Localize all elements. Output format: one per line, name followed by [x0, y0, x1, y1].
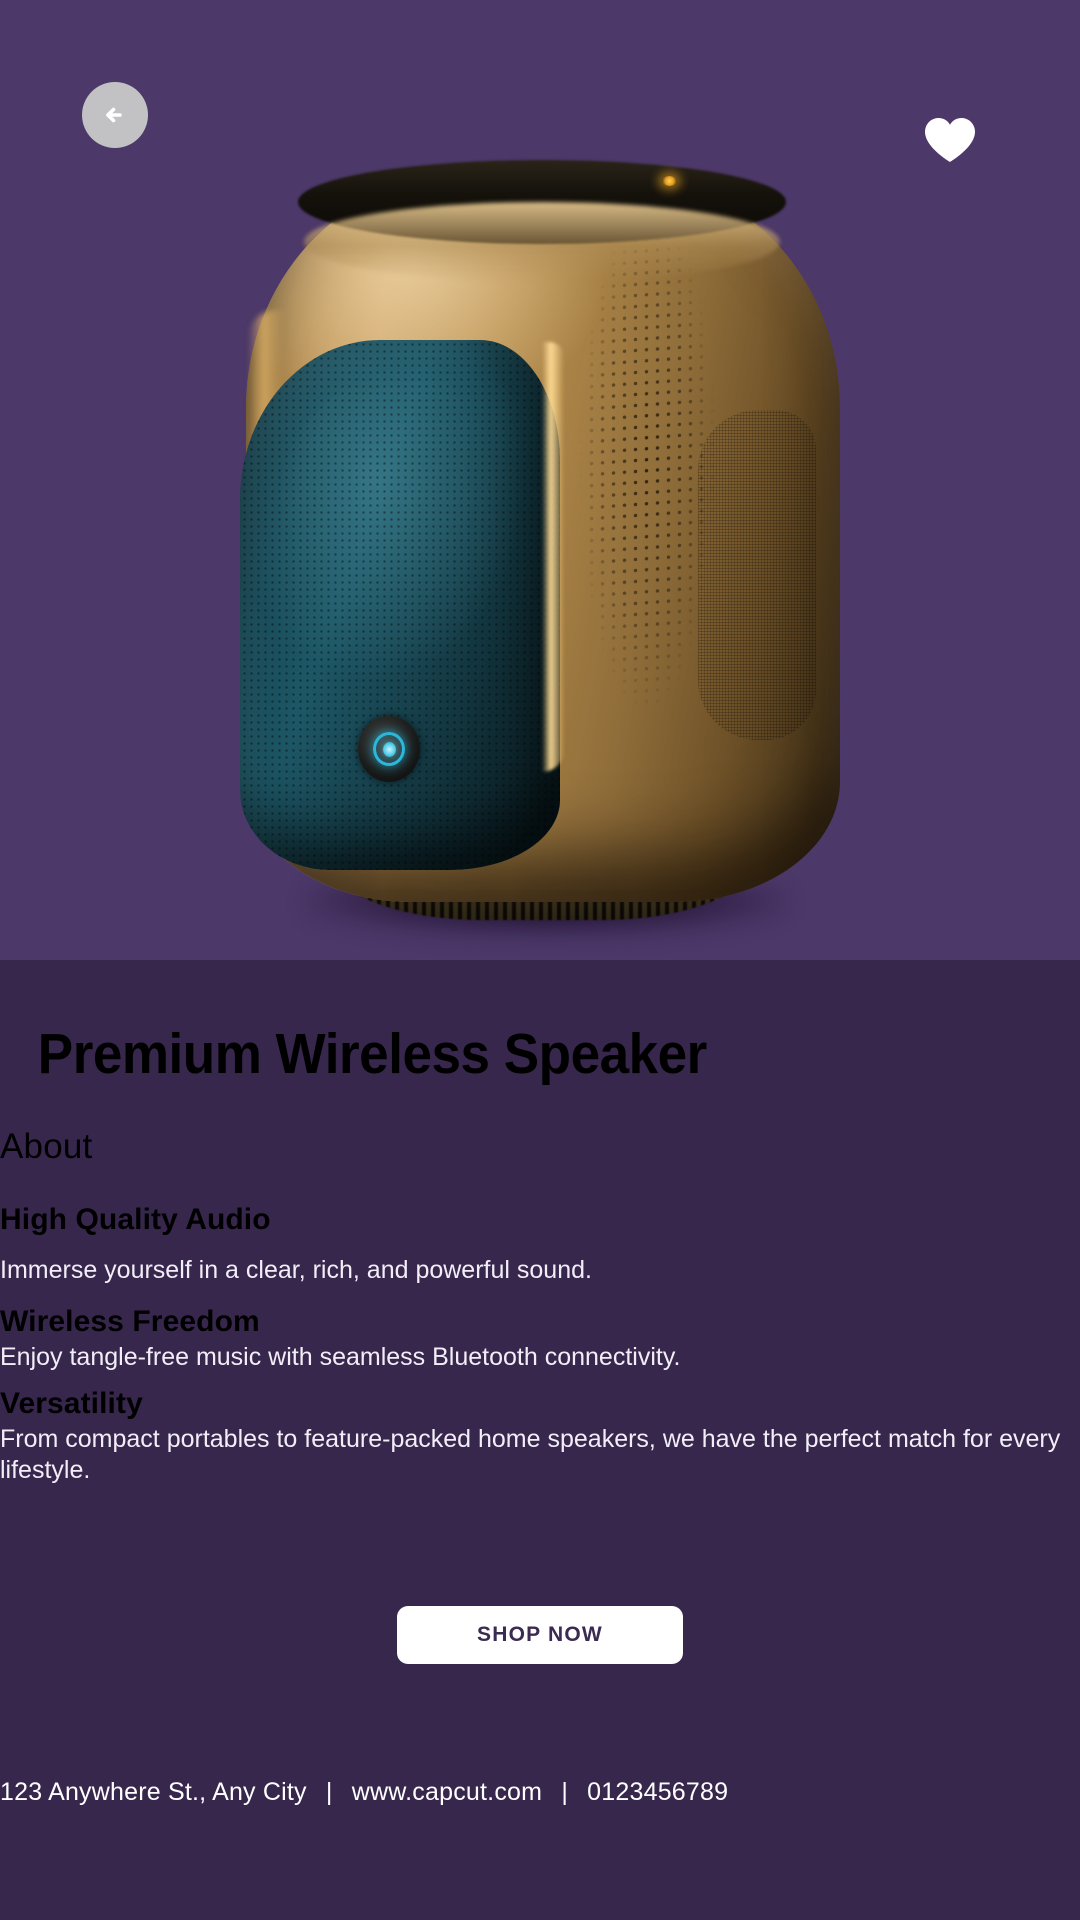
feature-item: High Quality Audio Immerse yourself in a… [0, 1203, 1080, 1286]
product-image [246, 160, 840, 930]
feature-heading: Wireless Freedom [0, 1305, 1080, 1339]
back-button[interactable] [82, 82, 148, 148]
power-ring-icon [373, 732, 405, 766]
footer-phone[interactable]: 0123456789 [587, 1778, 728, 1806]
footer-contact: 123 Anywhere St., Any City | www.capcut.… [0, 1778, 1080, 1807]
shop-now-button[interactable]: SHOP NOW [397, 1606, 683, 1664]
footer-separator: | [314, 1778, 345, 1806]
footer-address: 123 Anywhere St., Any City [0, 1778, 307, 1806]
heart-filled-icon [923, 116, 977, 164]
favorite-button[interactable] [920, 112, 980, 168]
power-core-icon [383, 742, 396, 757]
hero-section [0, 0, 1080, 960]
product-side-mesh [698, 410, 816, 740]
product-status-led-icon [662, 176, 677, 186]
about-heading: About [0, 1127, 1080, 1167]
feature-body: From compact portables to feature-packed… [0, 1424, 1080, 1485]
feature-body: Immerse yourself in a clear, rich, and p… [0, 1255, 1080, 1286]
arrow-left-icon [98, 98, 132, 132]
feature-heading: Versatility [0, 1387, 1080, 1421]
product-power-button[interactable] [358, 716, 420, 782]
product-front-mesh [240, 340, 560, 870]
product-mesh-bevel [542, 342, 564, 772]
product-top-rim [304, 202, 780, 282]
page-title: Premium Wireless Speaker [38, 1022, 1042, 1088]
feature-heading: High Quality Audio [0, 1203, 1080, 1237]
feature-item: Versatility From compact portables to fe… [0, 1387, 1080, 1485]
feature-body: Enjoy tangle-free music with seamless Bl… [0, 1342, 1080, 1373]
footer-website[interactable]: www.capcut.com [352, 1778, 542, 1806]
footer-separator: | [549, 1778, 580, 1806]
feature-item: Wireless Freedom Enjoy tangle-free music… [0, 1305, 1080, 1373]
